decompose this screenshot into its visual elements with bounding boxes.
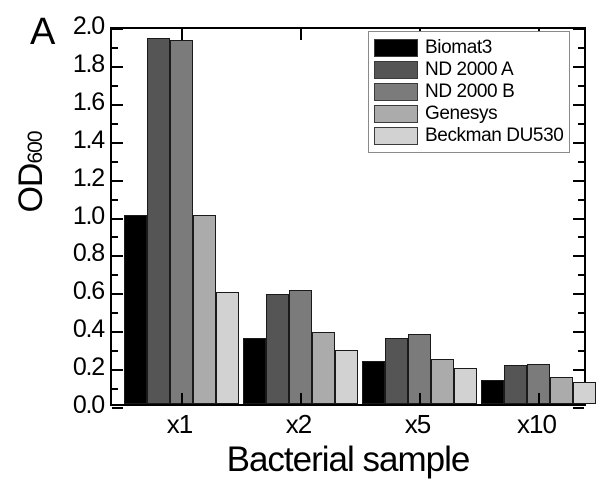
x-tick-label: x5 bbox=[405, 410, 430, 438]
legend-swatch bbox=[374, 127, 418, 145]
y-axis-tick bbox=[112, 66, 123, 68]
bar bbox=[573, 382, 596, 404]
y-axis-tick-right bbox=[573, 180, 584, 182]
y-axis-minor-tick-right bbox=[578, 350, 584, 352]
bar bbox=[335, 350, 358, 404]
legend-label: ND 2000 A bbox=[425, 60, 513, 80]
y-axis-minor-tick bbox=[112, 199, 118, 201]
y-axis-minor-tick bbox=[112, 388, 118, 390]
y-axis-minor-tick-right bbox=[578, 47, 584, 49]
bar bbox=[431, 359, 454, 404]
y-axis-tick-right bbox=[573, 142, 584, 144]
y-axis-tick-right bbox=[573, 369, 584, 371]
y-axis-minor-tick-right bbox=[578, 161, 584, 163]
y-axis-minor-tick bbox=[112, 236, 118, 238]
bar bbox=[243, 338, 266, 404]
y-axis-tick bbox=[112, 293, 123, 295]
y-tick-label: 0.2 bbox=[36, 355, 104, 380]
bar bbox=[312, 332, 335, 404]
bar bbox=[385, 338, 408, 404]
x-axis-title: Bacterial sample bbox=[110, 441, 586, 479]
y-axis-minor-tick bbox=[112, 312, 118, 314]
legend-item: ND 2000 B bbox=[374, 81, 563, 103]
y-tick-label: 1.0 bbox=[36, 204, 104, 229]
y-axis-minor-tick bbox=[112, 85, 118, 87]
y-tick-label: 0.4 bbox=[36, 317, 104, 342]
y-tick-label: 0.0 bbox=[36, 393, 104, 418]
y-axis-minor-tick bbox=[112, 350, 118, 352]
y-axis-minor-tick bbox=[112, 274, 118, 276]
legend-swatch bbox=[374, 39, 418, 57]
y-axis-tick bbox=[112, 104, 123, 106]
y-axis-minor-tick-right bbox=[578, 312, 584, 314]
y-axis-tick-right bbox=[573, 66, 584, 68]
bar bbox=[481, 380, 504, 404]
y-axis-tick-right bbox=[573, 293, 584, 295]
y-axis-tick-right bbox=[573, 218, 584, 220]
y-axis-tick bbox=[112, 180, 123, 182]
legend-label: ND 2000 B bbox=[425, 82, 514, 102]
y-tick-label: 0.6 bbox=[36, 279, 104, 304]
y-tick-label: 2.0 bbox=[36, 14, 104, 39]
bar bbox=[550, 377, 573, 404]
y-tick-label: 0.8 bbox=[36, 241, 104, 266]
x-axis-tick-top bbox=[300, 29, 302, 40]
bar bbox=[266, 294, 289, 404]
y-axis-tick-right bbox=[573, 104, 584, 106]
x-axis-tick bbox=[300, 393, 302, 404]
bar bbox=[124, 215, 147, 405]
legend-swatch bbox=[374, 61, 418, 79]
y-axis-minor-tick bbox=[112, 161, 118, 163]
y-axis-tick bbox=[112, 407, 123, 409]
bar bbox=[147, 38, 170, 404]
legend-item: ND 2000 A bbox=[374, 59, 563, 81]
legend-swatch bbox=[374, 105, 418, 123]
x-tick-label: x1 bbox=[167, 410, 192, 438]
y-axis-minor-tick-right bbox=[578, 123, 584, 125]
bar-chart-figure: A OD600 2.01.81.61.41.21.00.80.60.40.20.… bbox=[0, 0, 600, 486]
x-axis-tick bbox=[181, 393, 183, 404]
legend-item: Beckman DU530 bbox=[374, 125, 563, 147]
y-axis-tick bbox=[112, 331, 123, 333]
y-axis-tick-right bbox=[573, 407, 584, 409]
y-axis-tick bbox=[112, 142, 123, 144]
legend-label: Biomat3 bbox=[425, 38, 492, 58]
y-axis-tick-right bbox=[573, 28, 584, 30]
y-axis-minor-tick bbox=[112, 123, 118, 125]
legend-label: Genesys bbox=[425, 104, 497, 124]
x-tick-label: x10 bbox=[517, 410, 556, 438]
y-axis-minor-tick-right bbox=[578, 85, 584, 87]
y-axis-tick bbox=[112, 369, 123, 371]
bar bbox=[216, 292, 239, 404]
y-tick-label: 1.6 bbox=[36, 90, 104, 115]
y-axis-tick-right bbox=[573, 255, 584, 257]
y-tick-label: 1.2 bbox=[36, 166, 104, 191]
bar bbox=[454, 368, 477, 404]
x-tick-label: x2 bbox=[286, 410, 311, 438]
x-axis-tick bbox=[419, 393, 421, 404]
legend: Biomat3ND 2000 AND 2000 BGenesysBeckman … bbox=[368, 31, 570, 153]
x-axis-tick-top bbox=[181, 29, 183, 40]
y-axis-minor-tick-right bbox=[578, 199, 584, 201]
y-tick-label: 1.4 bbox=[36, 128, 104, 153]
y-axis-tick bbox=[112, 28, 123, 30]
x-axis-tick bbox=[538, 393, 540, 404]
legend-item: Genesys bbox=[374, 103, 563, 125]
y-axis-minor-tick-right bbox=[578, 274, 584, 276]
y-axis-minor-tick bbox=[112, 47, 118, 49]
y-axis-tick bbox=[112, 255, 123, 257]
bar bbox=[289, 290, 312, 404]
bar bbox=[504, 365, 527, 404]
y-axis-minor-tick-right bbox=[578, 236, 584, 238]
y-tick-label: 1.8 bbox=[36, 52, 104, 77]
legend-label: Beckman DU530 bbox=[425, 126, 563, 146]
bar bbox=[362, 361, 385, 404]
bar bbox=[193, 215, 216, 405]
legend-swatch bbox=[374, 83, 418, 101]
y-axis-tick-labels: 2.01.81.61.41.21.00.80.60.40.20.0 bbox=[36, 0, 104, 486]
bar bbox=[170, 40, 193, 404]
legend-item: Biomat3 bbox=[374, 37, 563, 59]
y-axis-tick bbox=[112, 218, 123, 220]
y-axis-tick-right bbox=[573, 331, 584, 333]
